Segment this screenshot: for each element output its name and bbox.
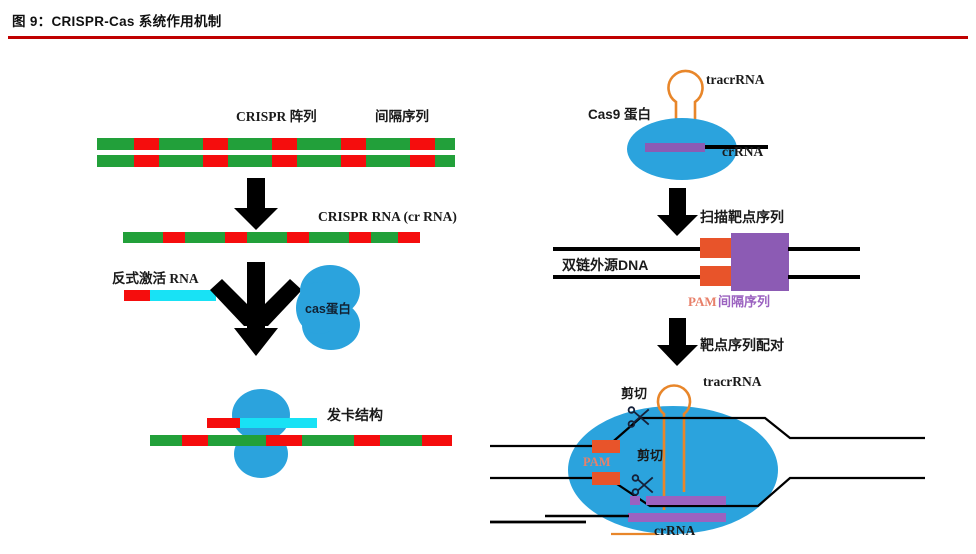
label-cut-upper: 剪切: [621, 387, 647, 400]
scissors-icon-lower: [630, 472, 656, 498]
label-cut-lower: 剪切: [637, 449, 663, 462]
crrna-tail-line: [545, 500, 745, 550]
hairpin-tracr-bar: [207, 418, 317, 428]
figure-title: 图 9：CRISPR-Cas 系统作用机制: [12, 10, 222, 30]
spacer-box-top: [731, 233, 789, 263]
label-hairpin: 发卡结构: [327, 408, 383, 422]
dsdna-bottom-right: [788, 275, 860, 279]
arrow-converge-icon: [208, 262, 304, 358]
crispr-rna-bar: [123, 232, 420, 243]
tracr-rna-bar: [124, 290, 216, 301]
cas9-spacer-bar: [645, 143, 705, 152]
label-target-pairing: 靶点序列配对: [700, 338, 784, 352]
label-crispr-rna: CRISPR RNA (cr RNA): [318, 210, 457, 224]
label-pam-bottom: PAM: [583, 456, 611, 469]
label-crrna-bottom: crRNA: [654, 524, 695, 538]
label-crispr-array: CRISPR 阵列: [236, 110, 317, 124]
label-tracr-rna-top: tracrRNA: [706, 73, 764, 87]
pam-box-cleavage-bottom: [592, 472, 620, 485]
hairpin-array-bar: [150, 435, 452, 446]
crispr-array-top-strand: [97, 138, 455, 150]
pam-box-bottom: [700, 266, 732, 286]
label-spacer-sequence-right: 间隔序列: [718, 295, 770, 308]
arrow-down-icon-pair: [653, 318, 703, 366]
label-cas-protein: cas蛋白: [305, 303, 351, 316]
dsdna-top-left: [553, 247, 703, 251]
dsdna-bottom-left: [553, 275, 703, 279]
label-pam-middle: PAM: [688, 295, 717, 308]
label-crrna-top: crRNA: [722, 145, 763, 159]
title-underline: [8, 36, 968, 39]
label-scan-target: 扫描靶点序列: [700, 210, 784, 224]
label-spacer-sequence: 间隔序列: [375, 110, 429, 124]
spacer-box-bottom: [731, 262, 789, 291]
label-tracr-rna-left: 反式激活 RNA: [112, 272, 199, 286]
figure-root: 图 9：CRISPR-Cas 系统作用机制 CRISPR 阵列 间隔序列: [0, 0, 976, 554]
label-cas9-protein: Cas9 蛋白: [588, 108, 651, 122]
dsdna-top-right: [788, 247, 860, 251]
arrow-down-icon-1: [228, 178, 284, 230]
scissors-icon-upper: [626, 404, 652, 430]
pam-box-top: [700, 238, 732, 258]
pam-box-cleavage-top: [592, 440, 620, 453]
crispr-array-bottom-strand: [97, 155, 455, 167]
label-dsdna: 双链外源DNA: [562, 258, 648, 272]
arrow-down-icon-scan: [653, 188, 703, 236]
